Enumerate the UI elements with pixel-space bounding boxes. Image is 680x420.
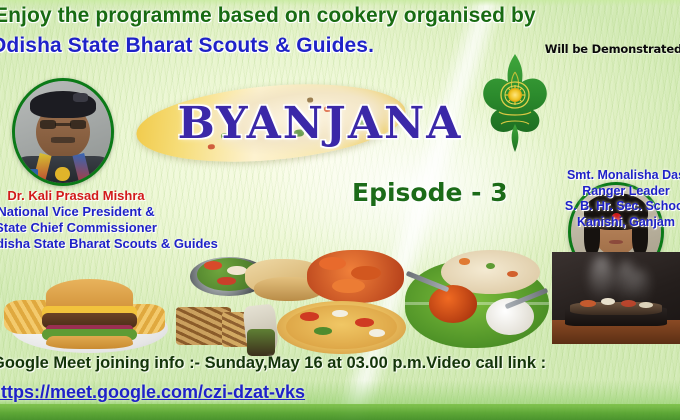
will-be-demonstrated-label: Will be Demonstrated [545, 42, 680, 56]
right-person-role-3: Kanishi, Ganjam [546, 215, 680, 231]
food-image-assorted-spread [176, 248, 406, 358]
episode-label: Episode - 3 [352, 178, 508, 207]
cookery-programme-poster: Enjoy the programme based on cookery org… [0, 0, 680, 420]
left-person-role-1: National Vice President & [0, 204, 166, 220]
food-image-rice-thali [402, 248, 552, 352]
meet-link[interactable]: https://meet.google.com/czi-dzat-vks [0, 382, 680, 403]
left-person-role-3: Odisha State Bharat Scouts & Guides [0, 236, 166, 252]
right-person-role-1: Ranger Leader [546, 184, 680, 200]
food-image-sizzling-platter [552, 252, 680, 344]
right-person-caption: Smt. Monalisha Das Ranger Leader S. B. H… [546, 168, 680, 230]
bottom-green-strip [0, 404, 680, 420]
right-person-role-2: S. B. Hr. Sec. School [546, 199, 680, 215]
avatar-left-person [12, 78, 114, 186]
left-person-role-2: State Chief Commissioner [0, 220, 166, 236]
right-person-name: Smt. Monalisha Das [546, 168, 680, 184]
left-person-name: Dr. Kali Prasad Mishra [0, 188, 166, 204]
left-person-caption: Dr. Kali Prasad Mishra National Vice Pre… [0, 188, 166, 252]
food-image-burger-with-fries [0, 262, 175, 357]
header-line-1: Enjoy the programme based on cookery org… [0, 4, 680, 28]
meet-info-text: Google Meet joining info :- Sunday,May 1… [0, 354, 680, 373]
